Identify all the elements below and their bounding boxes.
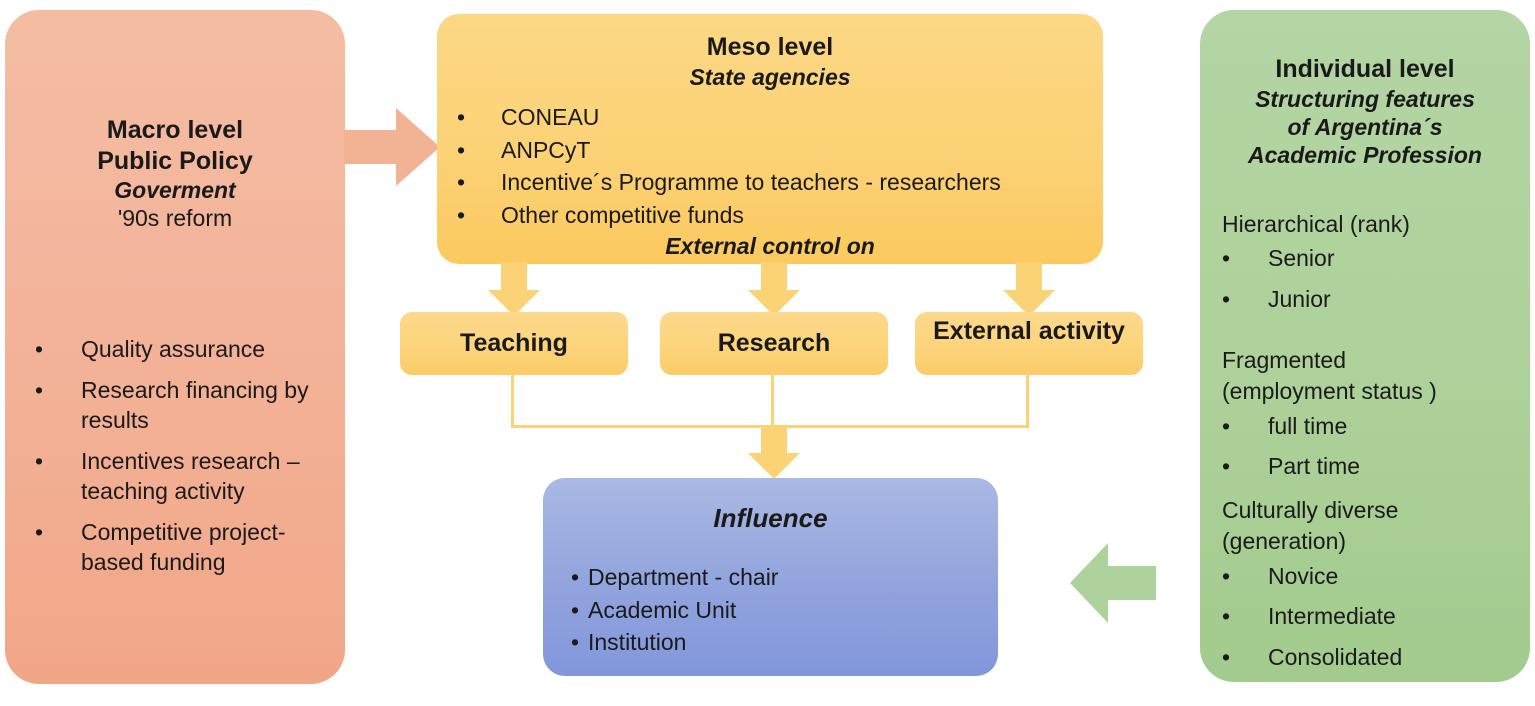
individual-level-subtitle-line: Structuring features (1200, 85, 1530, 113)
meso-to-research-arrow-icon (748, 262, 800, 316)
list-item: • Other competitive funds (457, 200, 1087, 231)
macro-level-heading: Macro level Public Policy Goverment '90s… (5, 115, 345, 232)
list-item: • Intermediate (1222, 601, 1522, 632)
list-item-label: Incentives research – teaching activity (81, 446, 325, 507)
influence-title: Influence (543, 503, 998, 535)
list-item-label: Academic Unit (588, 594, 971, 627)
list-item-label: Research financing by results (81, 375, 325, 436)
list-item-label: Novice (1268, 561, 1522, 592)
list-item: • ANPCyT (457, 135, 1087, 166)
macro-level-emphasis: Goverment (5, 176, 345, 204)
list-item-label: Other competitive funds (501, 200, 1087, 231)
meso-level-bullet-list: • CONEAU • ANPCyT • Incentive´s Programm… (457, 102, 1087, 232)
bullet-icon: • (457, 167, 465, 198)
list-item-label: Institution (588, 626, 971, 659)
list-item: • Department - chair (571, 561, 971, 594)
activity-box-external-activity: External activity (915, 312, 1143, 375)
meso-level-heading: Meso level State agencies (437, 32, 1103, 91)
bullet-icon: • (1222, 284, 1230, 315)
list-item: • Institution (571, 626, 971, 659)
list-item-label: Department - chair (588, 561, 971, 594)
activities-to-influence-arrow-icon (748, 425, 800, 479)
influence-bullet-list: • Department - chair • Academic Unit • I… (571, 561, 971, 659)
list-item: • Part time (1222, 451, 1522, 482)
list-item: • Incentives research – teaching activit… (35, 446, 325, 507)
activity-label: External activity (915, 317, 1143, 345)
meso-level-title: Meso level (437, 32, 1103, 63)
bullet-icon: • (1222, 243, 1230, 274)
individual-group-hierarchical: Hierarchical (rank) • Senior • Junior (1222, 210, 1522, 325)
list-item: • Quality assurance (35, 334, 325, 365)
bullet-icon: • (1222, 561, 1230, 592)
influence-box: Influence • Department - chair • Academi… (543, 478, 998, 676)
activity-label: Teaching (400, 329, 628, 359)
bullet-icon: • (35, 446, 43, 477)
list-item-label: CONEAU (501, 102, 1087, 133)
bullet-icon: • (571, 561, 579, 594)
activity-label: Research (660, 329, 888, 359)
bullet-icon: • (571, 626, 579, 659)
group-heading: (generation) (1222, 527, 1522, 556)
list-item: • full time (1222, 411, 1522, 442)
list-item: • Junior (1222, 284, 1522, 315)
bullet-icon: • (1222, 451, 1230, 482)
group-heading: (employment status ) (1222, 377, 1522, 406)
list-item: • CONEAU (457, 102, 1087, 133)
connector-line-external-activity (1026, 375, 1029, 427)
list-item-label: Quality assurance (81, 334, 325, 365)
group-heading: Fragmented (1222, 346, 1522, 375)
macro-level-note: '90s reform (5, 204, 345, 232)
list-item: • Consolidated (1222, 642, 1522, 673)
list-item-label: Consolidated (1268, 642, 1522, 673)
individual-group-culturally-diverse: Culturally diverse (generation) • Novice… (1222, 496, 1522, 683)
individual-level-box: Individual level Structuring features of… (1200, 10, 1530, 682)
bullet-icon: • (35, 517, 43, 548)
list-item: • Competitive project-based funding (35, 517, 325, 578)
activity-box-research: Research (660, 312, 888, 375)
group-heading: Culturally diverse (1222, 496, 1522, 525)
activity-box-teaching: Teaching (400, 312, 628, 375)
bullet-icon: • (35, 334, 43, 365)
connector-line-research (771, 375, 774, 427)
bullet-icon: • (571, 594, 579, 627)
list-item-label: Competitive project-based funding (81, 517, 325, 578)
list-item-label: Junior (1268, 284, 1522, 315)
bullet-icon: • (457, 135, 465, 166)
diagram-canvas: Macro level Public Policy Goverment '90s… (0, 0, 1535, 706)
meso-level-subtitle: State agencies (437, 63, 1103, 91)
bullet-icon: • (457, 200, 465, 231)
individual-level-subtitle-line: Academic Profession (1200, 141, 1530, 169)
bullet-icon: • (35, 375, 43, 406)
list-item: • Senior (1222, 243, 1522, 274)
individual-to-influence-arrow-icon (1070, 543, 1156, 623)
list-item-label: ANPCyT (501, 135, 1087, 166)
group-heading: Hierarchical (rank) (1222, 210, 1522, 239)
list-item-label: Part time (1268, 451, 1522, 482)
meso-level-footer: External control on (437, 232, 1103, 260)
list-item: • Incentive´s Programme to teachers - re… (457, 167, 1087, 198)
meso-to-external-activity-arrow-icon (1003, 262, 1055, 316)
bullet-icon: • (1222, 642, 1230, 673)
list-item: • Research financing by results (35, 375, 325, 436)
list-item: • Academic Unit (571, 594, 971, 627)
group-item-list: • full time • Part time (1222, 411, 1522, 482)
list-item-label: Senior (1268, 243, 1522, 274)
bullet-icon: • (1222, 601, 1230, 632)
connector-line-teaching (511, 375, 514, 427)
macro-level-bullet-list: • Quality assurance • Research financing… (35, 334, 325, 588)
list-item: • Novice (1222, 561, 1522, 592)
individual-level-title: Individual level (1200, 54, 1530, 85)
meso-level-box: Meso level State agencies • CONEAU • ANP… (437, 14, 1103, 264)
macro-to-meso-arrow-icon (344, 108, 440, 186)
list-item-label: Intermediate (1268, 601, 1522, 632)
group-item-list: • Novice • Intermediate • Consolidated (1222, 561, 1522, 673)
bullet-icon: • (1222, 411, 1230, 442)
group-item-list: • Senior • Junior (1222, 243, 1522, 314)
individual-group-fragmented: Fragmented (employment status ) • full t… (1222, 346, 1522, 492)
macro-level-box: Macro level Public Policy Goverment '90s… (5, 10, 345, 684)
list-item-label: Incentive´s Programme to teachers - rese… (501, 167, 1087, 198)
meso-to-teaching-arrow-icon (488, 262, 540, 316)
bullet-icon: • (457, 102, 465, 133)
list-item-label: full time (1268, 411, 1522, 442)
macro-level-subtitle: Public Policy (5, 146, 345, 177)
macro-level-title: Macro level (5, 115, 345, 146)
individual-level-subtitle-line: of Argentina´s (1200, 113, 1530, 141)
individual-level-heading: Individual level Structuring features of… (1200, 54, 1530, 169)
